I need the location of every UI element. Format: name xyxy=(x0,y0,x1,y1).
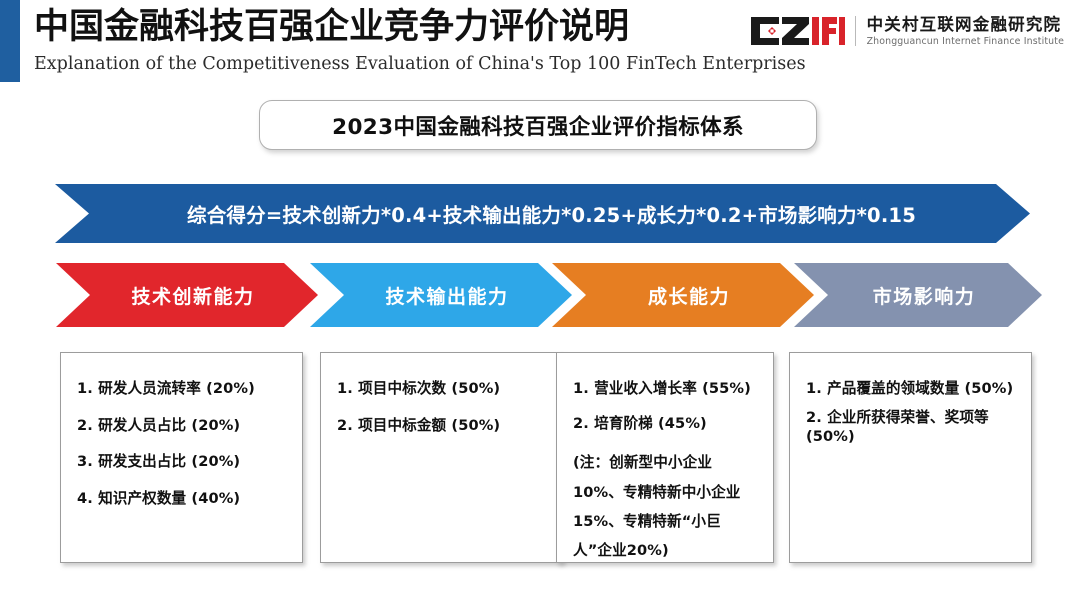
indicator-note: (注：创新型中小企业10%、专精特新中小企业15%、专精特新“小巨人”企业20%… xyxy=(573,448,757,565)
framework-title-box: 2023中国金融科技百强企业评价指标体系 xyxy=(259,100,817,150)
logo-divider xyxy=(855,16,856,46)
indicator-item: 3. 研发支出占比 (20%) xyxy=(77,452,286,472)
dimension-label: 成长能力 xyxy=(636,282,730,309)
indicator-item: 2. 企业所获得荣誉、奖项等 (50%) xyxy=(806,408,1015,447)
dimension-chevron-market-influence: 市场影响力 xyxy=(794,263,1042,327)
framework-title-text: 2023中国金融科技百强企业评价指标体系 xyxy=(332,110,744,141)
indicator-item: 2. 研发人员占比 (20%) xyxy=(77,416,286,436)
header-text-block: 中国金融科技百强企业竞争力评价说明 Explanation of the Com… xyxy=(34,4,806,76)
dimension-chevron-technical-output: 技术输出能力 xyxy=(310,263,572,327)
indicator-card-technical-innovation: 1. 研发人员流转率 (20%) 2. 研发人员占比 (20%) 3. 研发支出… xyxy=(60,352,303,563)
indicator-card-technical-output: 1. 项目中标次数 (50%) 2. 项目中标金额 (50%) xyxy=(320,352,563,563)
dimension-chevron-row: 技术创新能力 技术输出能力 成长能力 市场影响力 xyxy=(0,263,1080,327)
logo-name-english: Zhongguancun Internet Finance Institute xyxy=(867,35,1064,48)
logo-name-chinese: 中关村互联网金融研究院 xyxy=(867,15,1064,34)
indicator-item: 4. 知识产权数量 (40%) xyxy=(77,489,286,509)
indicator-item: 2. 项目中标金额 (50%) xyxy=(337,416,546,436)
dimension-label: 技术创新能力 xyxy=(119,282,254,309)
header-accent-bar xyxy=(0,0,20,82)
indicator-card-growth: 1. 营业收入增长率 (55%) 2. 培育阶梯 (45%) (注：创新型中小企… xyxy=(556,352,774,563)
page-title-chinese: 中国金融科技百强企业竞争力评价说明 xyxy=(34,4,806,50)
page-subtitle-english: Explanation of the Competitiveness Evalu… xyxy=(34,52,806,76)
dimension-chevron-growth: 成长能力 xyxy=(552,263,814,327)
score-formula-banner: 综合得分=技术创新力*0.4+技术输出能力*0.25+成长力*0.2+市场影响力… xyxy=(55,184,1030,243)
czifi-logomark-icon xyxy=(749,16,845,46)
slide-root: 中国金融科技百强企业竞争力评价说明 Explanation of the Com… xyxy=(0,0,1080,608)
dimension-label: 市场影响力 xyxy=(861,282,976,309)
indicator-item: 2. 培育阶梯 (45%) xyxy=(573,414,757,434)
indicator-card-row: 1. 研发人员流转率 (20%) 2. 研发人员占比 (20%) 3. 研发支出… xyxy=(0,352,1080,567)
dimension-label: 技术输出能力 xyxy=(373,282,508,309)
indicator-card-market-influence: 1. 产品覆盖的领域数量 (50%) 2. 企业所获得荣誉、奖项等 (50%) xyxy=(789,352,1032,563)
score-formula-text: 综合得分=技术创新力*0.4+技术输出能力*0.25+成长力*0.2+市场影响力… xyxy=(169,199,916,228)
indicator-item: 1. 营业收入增长率 (55%) xyxy=(573,379,757,399)
indicator-item: 1. 研发人员流转率 (20%) xyxy=(77,379,286,399)
logo-wordmark: 中关村互联网金融研究院 Zhongguancun Internet Financ… xyxy=(867,15,1064,48)
organization-logo: 中关村互联网金融研究院 Zhongguancun Internet Financ… xyxy=(749,10,1064,52)
dimension-chevron-technical-innovation: 技术创新能力 xyxy=(56,263,318,327)
slide-header: 中国金融科技百强企业竞争力评价说明 Explanation of the Com… xyxy=(0,0,1080,86)
indicator-item: 1. 项目中标次数 (50%) xyxy=(337,379,546,399)
indicator-item: 1. 产品覆盖的领域数量 (50%) xyxy=(806,379,1015,399)
